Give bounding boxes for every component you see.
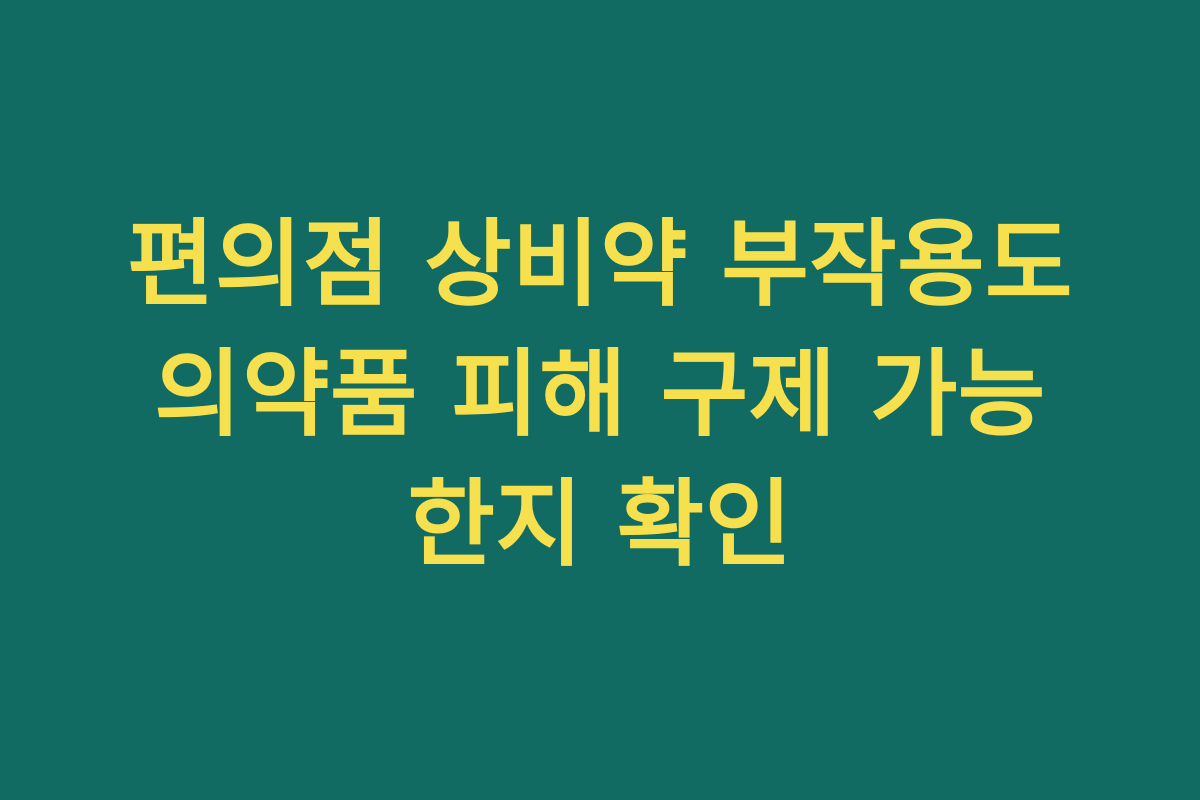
headline-line-1: 편의점 상비약 부작용도 — [40, 200, 1160, 330]
headline-text-block: 편의점 상비약 부작용도 의약품 피해 구제 가능 한지 확인 — [40, 200, 1160, 590]
headline-card: 편의점 상비약 부작용도 의약품 피해 구제 가능 한지 확인 — [0, 0, 1200, 800]
headline-line-3: 한지 확인 — [40, 460, 1160, 590]
headline-line-2: 의약품 피해 구제 가능 — [40, 330, 1160, 460]
